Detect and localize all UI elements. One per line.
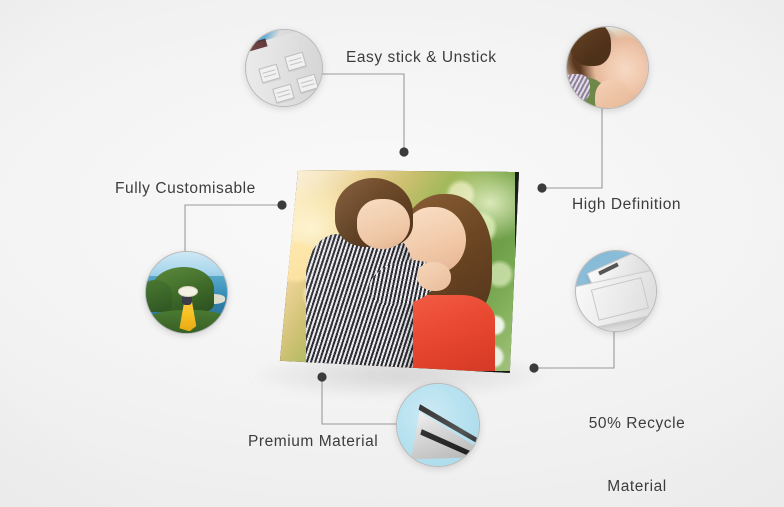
panel-edge-artwork bbox=[397, 384, 479, 466]
connector-premium-material bbox=[322, 381, 400, 424]
panel-right-edge bbox=[515, 165, 519, 375]
island-photo-artwork bbox=[146, 252, 227, 333]
panel-edge-thumbnail[interactable] bbox=[396, 383, 480, 467]
product-photo-panel bbox=[277, 165, 519, 375]
recycled-paper-thumbnail[interactable] bbox=[575, 250, 657, 332]
node-high-definition bbox=[537, 183, 546, 192]
infographic-stage: Easy stick & Unstick High Definition Ful… bbox=[0, 0, 784, 507]
label-fully-customisable: Fully Customisable bbox=[115, 179, 256, 200]
connector-fully-customisable bbox=[185, 205, 278, 252]
node-easy-stick bbox=[399, 147, 408, 156]
label-recycle-material-line2: Material bbox=[582, 477, 692, 498]
custom-island-photo-thumbnail[interactable] bbox=[145, 251, 228, 334]
adhesive-pads-artwork bbox=[246, 30, 322, 106]
high-definition-closeup-thumbnail[interactable] bbox=[566, 26, 649, 109]
panel-bottom-edge bbox=[277, 371, 519, 375]
node-fully-customisable bbox=[277, 200, 286, 209]
recycled-paper-artwork bbox=[576, 251, 656, 331]
panel-photo-boy-hand bbox=[417, 262, 451, 291]
label-easy-stick: Easy stick & Unstick bbox=[346, 48, 497, 69]
connector-high-definition bbox=[546, 108, 602, 188]
node-recycle-material bbox=[529, 363, 538, 372]
high-definition-artwork bbox=[567, 27, 648, 108]
connector-recycle-material bbox=[538, 330, 614, 368]
label-recycle-material: 50% Recycle Material bbox=[582, 372, 692, 507]
label-premium-material: Premium Material bbox=[248, 432, 378, 453]
label-high-definition: High Definition bbox=[572, 195, 681, 216]
label-recycle-material-line1: 50% Recycle bbox=[582, 414, 692, 435]
connector-easy-stick bbox=[320, 74, 404, 148]
adhesive-pads-thumbnail[interactable] bbox=[245, 29, 323, 107]
node-premium-material bbox=[317, 372, 326, 381]
